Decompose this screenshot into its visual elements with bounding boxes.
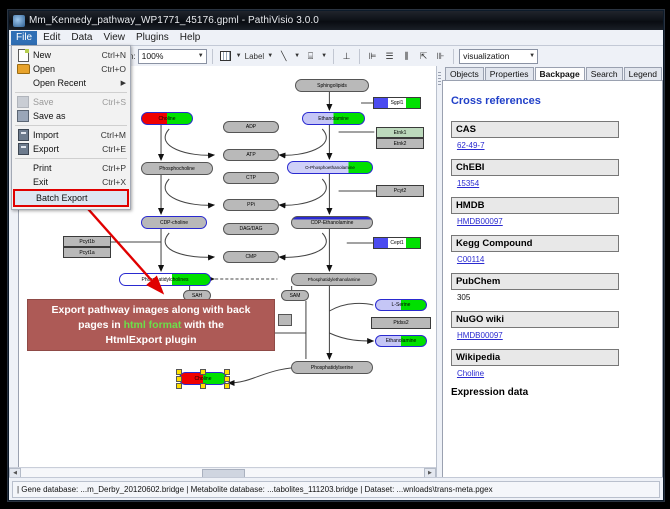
statusbar-text: | Gene database: ...m_Derby_20120602.bri… bbox=[12, 481, 660, 498]
window-title: Mm_Kennedy_pathway_WP1771_45176.gpml - P… bbox=[29, 15, 319, 26]
node-adp[interactable]: ADP bbox=[223, 121, 279, 133]
menu-item-print[interactable]: Print Ctrl+P bbox=[12, 161, 130, 175]
menu-item-export-accel: Ctrl+E bbox=[96, 144, 126, 154]
toolbar-divider bbox=[212, 49, 213, 64]
node-phosphatidylcholines[interactable]: Phosphatidylcholines bbox=[119, 273, 211, 286]
menu-item-export-label: Export bbox=[33, 144, 96, 154]
xref-value-pubchem: 305 bbox=[457, 293, 654, 302]
node-etnk2[interactable]: Etnk2 bbox=[376, 138, 424, 149]
node-pcyt2[interactable]: Pcyt2 bbox=[376, 185, 424, 197]
tab-backpage[interactable]: Backpage bbox=[535, 67, 585, 81]
shape-dropdown-arrow[interactable]: ▼ bbox=[320, 53, 328, 59]
open-folder-icon bbox=[16, 63, 30, 75]
align-left-icon[interactable]: ⊫ bbox=[365, 49, 380, 64]
menu-item-open-accel: Ctrl+O bbox=[95, 64, 126, 74]
xref-link-kegg[interactable]: C00114 bbox=[457, 255, 484, 264]
node-etnk1[interactable]: Etnk1 bbox=[376, 127, 424, 138]
menu-edit[interactable]: Edit bbox=[38, 31, 65, 45]
node-phosphatidylserine[interactable]: Phosphatidylserine bbox=[291, 361, 373, 374]
callout-line2-b: with the bbox=[181, 319, 224, 331]
node-ppi[interactable]: PPi bbox=[223, 199, 279, 211]
xref-label-pubchem: PubChem bbox=[451, 273, 619, 290]
xref-label-hmdb: HMDB bbox=[451, 197, 619, 214]
menu-item-save-as-label: Save as bbox=[33, 111, 120, 121]
menu-item-import[interactable]: Import Ctrl+M bbox=[12, 128, 130, 142]
node-pcyt1a[interactable]: Pcyt1a bbox=[63, 247, 111, 258]
node-phosphocholine[interactable]: Phosphocholine bbox=[141, 162, 213, 175]
toolbar-divider-2 bbox=[333, 49, 334, 64]
menu-help[interactable]: Help bbox=[175, 31, 206, 45]
submenu-arrow-icon: ▶ bbox=[121, 79, 126, 87]
xref-value-nugo[interactable]: HMDB00097 bbox=[457, 331, 654, 340]
align-center-icon[interactable]: ☰ bbox=[382, 49, 397, 64]
menu-item-open-label: Open bbox=[33, 64, 95, 74]
xref-value-chebi[interactable]: 15354 bbox=[457, 179, 654, 188]
menu-item-print-accel: Ctrl+P bbox=[96, 163, 126, 173]
menu-item-import-label: Import bbox=[33, 130, 95, 140]
menu-view[interactable]: View bbox=[98, 31, 130, 45]
new-document-icon bbox=[16, 49, 30, 61]
node-sam[interactable]: SAM bbox=[281, 290, 309, 301]
chevron-down-icon-2: ▼ bbox=[529, 53, 535, 59]
annotation-callout: Export pathway images along with back pa… bbox=[27, 299, 275, 351]
node-cept1[interactable]: Cept1 bbox=[373, 237, 421, 249]
menu-file[interactable]: File bbox=[11, 31, 37, 45]
menu-item-open[interactable]: Open Ctrl+O bbox=[12, 62, 130, 76]
node-ctp[interactable]: CTP bbox=[223, 172, 279, 184]
toolbar-divider-4 bbox=[453, 49, 454, 64]
xref-label-chebi: ChEBI bbox=[451, 159, 619, 176]
menu-item-save-as[interactable]: Save as bbox=[12, 109, 130, 123]
blank-icon-2 bbox=[16, 162, 30, 174]
shape-tool-icon[interactable]: ⌸ bbox=[303, 49, 318, 64]
zoom-value: 100% bbox=[142, 51, 164, 61]
line-tool-icon[interactable]: ╲ bbox=[276, 49, 291, 64]
selection-handle-nw[interactable] bbox=[176, 369, 182, 375]
xref-value-hmdb[interactable]: HMDB00097 bbox=[457, 217, 654, 226]
tab-properties[interactable]: Properties bbox=[485, 67, 534, 80]
menu-data[interactable]: Data bbox=[66, 31, 97, 45]
blank-icon bbox=[16, 77, 30, 89]
menubar: File Edit Data View Plugins Help bbox=[9, 30, 663, 46]
line-dropdown-arrow[interactable]: ▼ bbox=[293, 53, 301, 59]
node-sgpl1[interactable]: Sgpl1 bbox=[373, 97, 421, 109]
menu-item-exit-accel: Ctrl+X bbox=[96, 177, 126, 187]
selection-handle-ne[interactable] bbox=[224, 369, 230, 375]
node-phosphatidylethanolamine[interactable]: Phosphatidylethanolamine bbox=[291, 273, 377, 286]
menu-item-open-recent-label: Open Recent bbox=[33, 78, 121, 88]
xref-link-hmdb[interactable]: HMDB00097 bbox=[457, 217, 503, 226]
xref-value-cas[interactable]: 62-49-7 bbox=[457, 141, 654, 150]
batch-export-highlight: Batch Export bbox=[13, 189, 129, 207]
blank-icon-4 bbox=[19, 192, 33, 204]
xref-link-cas[interactable]: 62-49-7 bbox=[457, 141, 485, 150]
node-sphingolipids[interactable]: Sphingolipids bbox=[295, 79, 369, 92]
expression-data-heading: Expression data bbox=[451, 387, 654, 398]
menu-item-open-recent[interactable]: Open Recent ▶ bbox=[12, 76, 130, 90]
menu-item-save: Save Ctrl+S bbox=[12, 95, 130, 109]
callout-anchor-block bbox=[278, 314, 292, 326]
node-choline-top[interactable]: Choline bbox=[141, 112, 193, 125]
menu-separator-1 bbox=[15, 92, 127, 93]
node-cdp-ethanolamine[interactable]: CDP-Ethanolamine bbox=[291, 216, 373, 229]
save-disk-icon bbox=[16, 96, 30, 108]
visualization-value: visualization bbox=[463, 51, 509, 61]
node-cmp[interactable]: CMP bbox=[223, 251, 279, 263]
sidebar-tabstrip: Objects Properties Backpage Search Legen… bbox=[442, 66, 663, 80]
statusbar: | Gene database: ...m_Derby_20120602.bri… bbox=[9, 477, 663, 500]
node-pcyt1b[interactable]: Pcyt1b bbox=[63, 236, 111, 247]
label-dropdown-arrow[interactable]: ▼ bbox=[266, 53, 274, 59]
menu-item-batch-export-label: Batch Export bbox=[36, 193, 123, 203]
menu-item-new-accel: Ctrl+N bbox=[96, 50, 126, 60]
label-button[interactable]: Label bbox=[245, 52, 265, 61]
menu-item-save-accel: Ctrl+S bbox=[96, 97, 126, 107]
group-icon[interactable]: ⊪ bbox=[433, 49, 448, 64]
xref-link-wikipedia[interactable]: Choline bbox=[457, 369, 484, 378]
menu-item-export[interactable]: Export Ctrl+E bbox=[12, 142, 130, 156]
xref-value-kegg[interactable]: C00114 bbox=[457, 255, 654, 264]
backpage-panel: Cross references CAS 62-49-7 ChEBI 15354… bbox=[442, 80, 663, 478]
xref-label-kegg: Kegg Compound bbox=[451, 235, 619, 252]
distribute-icon[interactable]: ⫼ bbox=[399, 49, 414, 64]
split-grip-dots bbox=[438, 72, 441, 86]
selection-handle-e[interactable] bbox=[224, 376, 230, 382]
import-icon bbox=[16, 129, 30, 141]
callout-line1: Export pathway images along with back bbox=[52, 304, 251, 316]
file-menu-popup[interactable]: New Ctrl+N Open Ctrl+O Open Recent ▶ Sav… bbox=[11, 45, 131, 210]
save-as-disk-icon bbox=[16, 110, 30, 122]
stack-icon[interactable]: ⇱ bbox=[416, 49, 431, 64]
node-atp[interactable]: ATP bbox=[223, 149, 279, 161]
menu-item-print-label: Print bbox=[33, 163, 96, 173]
tab-objects[interactable]: Objects bbox=[445, 67, 484, 80]
sidebar-pane: Objects Properties Backpage Search Legen… bbox=[437, 66, 663, 478]
menu-separator-2 bbox=[15, 125, 127, 126]
menu-plugins[interactable]: Plugins bbox=[131, 31, 174, 45]
grid-button[interactable] bbox=[218, 49, 233, 64]
menu-item-save-label: Save bbox=[33, 97, 96, 107]
menu-item-new-label: New bbox=[33, 50, 96, 60]
callout-line2-a: pages in bbox=[78, 319, 124, 331]
node-cdp-choline[interactable]: CDP-choline bbox=[141, 216, 207, 229]
xref-value-wikipedia[interactable]: Choline bbox=[457, 369, 654, 378]
node-dag[interactable]: DAG/DAG bbox=[223, 223, 279, 235]
node-o-phosphoethanolamine[interactable]: O-Phosphoethanolamine bbox=[287, 161, 373, 174]
blank-icon-3 bbox=[16, 176, 30, 188]
visualization-combobox[interactable]: visualization ▼ bbox=[459, 49, 538, 64]
tab-search[interactable]: Search bbox=[586, 67, 623, 80]
menu-item-new[interactable]: New Ctrl+N bbox=[12, 48, 130, 62]
menu-item-exit-label: Exit bbox=[33, 177, 96, 187]
app-icon bbox=[13, 15, 25, 27]
anchor-tool-icon[interactable]: ⊥ bbox=[339, 49, 354, 64]
grid-dropdown-arrow[interactable]: ▼ bbox=[235, 53, 243, 59]
zoom-combobox[interactable]: 100% ▼ bbox=[138, 49, 207, 64]
pathvisio-window: Mm_Kennedy_pathway_WP1771_45176.gpml - P… bbox=[8, 10, 664, 501]
chevron-down-icon: ▼ bbox=[198, 53, 204, 59]
xref-label-cas: CAS bbox=[451, 121, 619, 138]
tab-legend[interactable]: Legend bbox=[624, 67, 662, 80]
xref-link-chebi[interactable]: 15354 bbox=[457, 179, 479, 188]
node-l-serine[interactable]: L-Serine bbox=[375, 299, 427, 311]
callout-line2-highlight: html format bbox=[124, 319, 182, 331]
menu-item-exit[interactable]: Exit Ctrl+X bbox=[12, 175, 130, 189]
menu-item-import-accel: Ctrl+M bbox=[95, 130, 126, 140]
selection-handle-n[interactable] bbox=[200, 369, 206, 375]
selection-handle-se[interactable] bbox=[224, 383, 230, 389]
selection-handle-sw[interactable] bbox=[176, 383, 182, 389]
menu-item-batch-export[interactable]: Batch Export bbox=[15, 191, 127, 205]
node-ethanolamine-top[interactable]: Ethanolamine bbox=[302, 112, 365, 125]
node-ethanolamine-right[interactable]: Ethanolamine bbox=[375, 335, 427, 347]
selection-handle-s[interactable] bbox=[200, 383, 206, 389]
menu-separator-3 bbox=[15, 158, 127, 159]
cross-references-heading: Cross references bbox=[451, 95, 654, 107]
callout-line3: HtmlExport plugin bbox=[106, 334, 197, 346]
selection-handle-w[interactable] bbox=[176, 376, 182, 382]
toolbar-divider-3 bbox=[359, 49, 360, 64]
node-ptdss2[interactable]: Ptdss2 bbox=[371, 317, 431, 329]
xref-link-nugo[interactable]: HMDB00097 bbox=[457, 331, 503, 340]
xref-label-wikipedia: Wikipedia bbox=[451, 349, 619, 366]
xref-label-nugo: NuGO wiki bbox=[451, 311, 619, 328]
window-titlebar: Mm_Kennedy_pathway_WP1771_45176.gpml - P… bbox=[9, 11, 663, 30]
export-icon bbox=[16, 143, 30, 155]
